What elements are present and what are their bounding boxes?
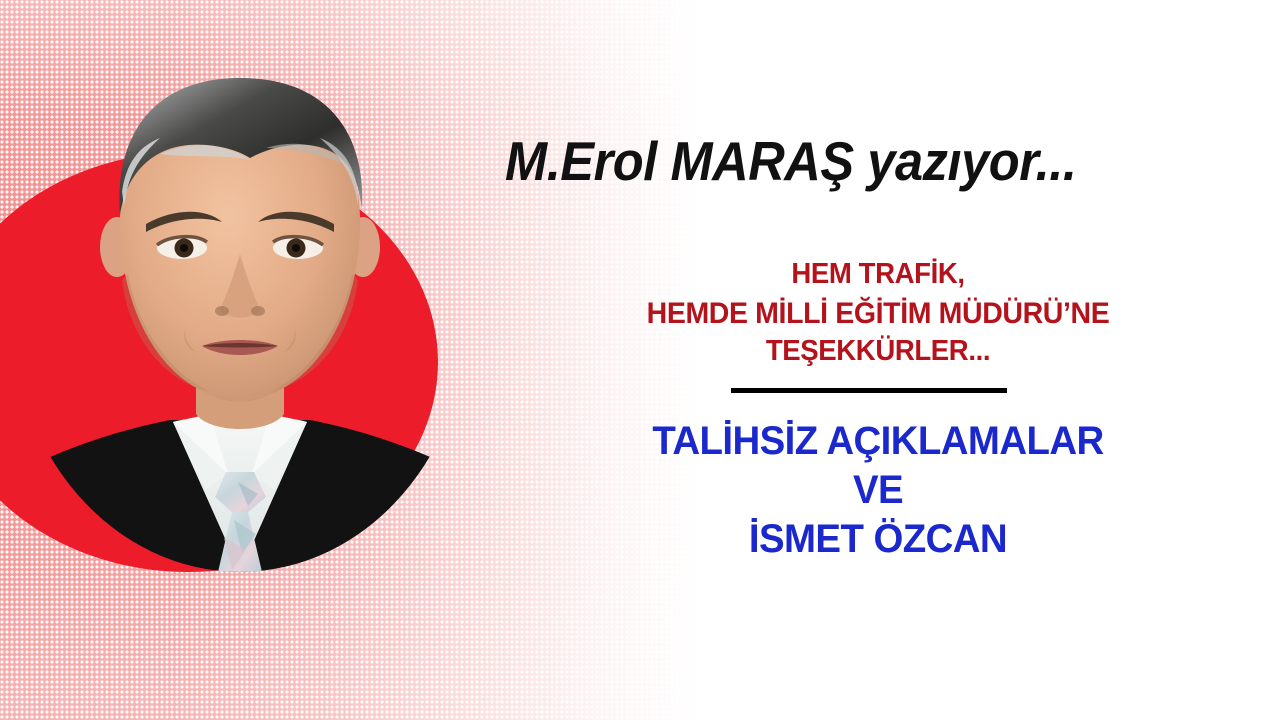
headline-red: HEM TRAFİK, HEMDE MİLLİ EĞİTİM MÜDÜRÜ’NE…	[517, 256, 1239, 370]
byline-text: M.Erol MARAŞ yazıyor...	[505, 134, 1186, 189]
horizontal-divider	[731, 388, 1007, 393]
headline-red-line-3: TEŞEKKÜRLER...	[517, 333, 1239, 371]
headline-blue: TALİHSİZ AÇIKLAMALAR VE İSMET ÖZCAN	[513, 417, 1243, 563]
headline-red-line-1: HEM TRAFİK,	[517, 256, 1239, 294]
columnist-portrait	[10, 42, 470, 572]
headline-blue-line-1: TALİHSİZ AÇIKLAMALAR	[513, 417, 1243, 466]
headline-red-line-2: HEMDE MİLLİ EĞİTİM MÜDÜRÜ’NE	[517, 294, 1239, 333]
headline-blue-line-3: İSMET ÖZCAN	[513, 515, 1243, 564]
newspaper-column-banner: M.Erol MARAŞ yazıyor... HEM TRAFİK, HEMD…	[0, 0, 1280, 720]
headline-blue-line-2: VE	[513, 466, 1243, 515]
